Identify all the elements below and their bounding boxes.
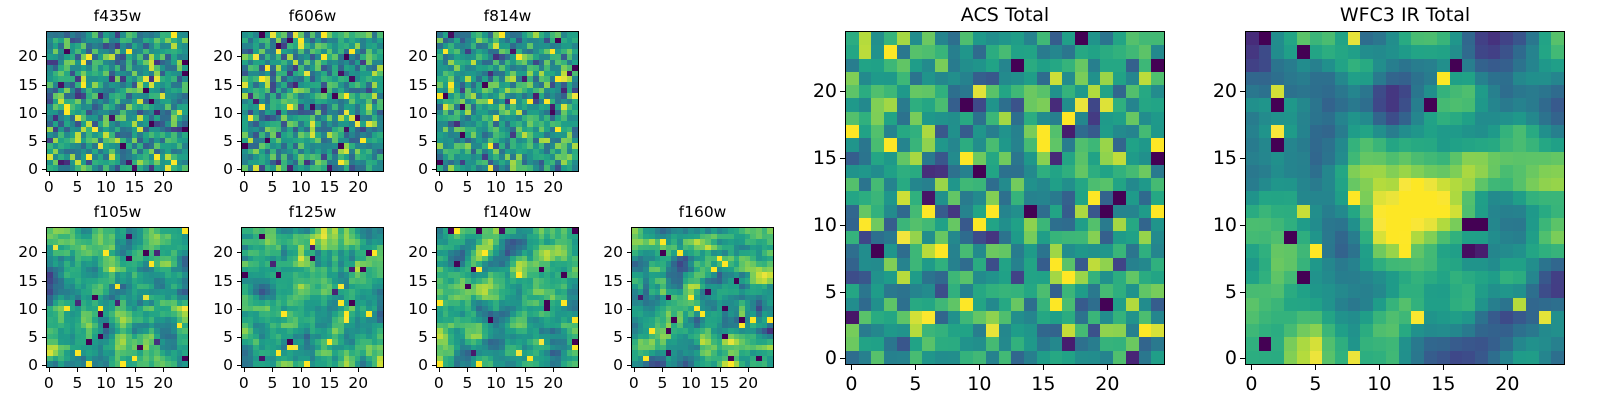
ytick-label-acs-total-3: 15 <box>725 147 837 169</box>
ytick-wfc3-ir-total-2 <box>1240 225 1245 226</box>
ytick-f125w-2 <box>237 309 241 310</box>
ytick-label-f125w-4: 20 <box>131 243 233 261</box>
heatmap-cells-wfc3-ir-total <box>1246 32 1564 364</box>
xtick-f606w-2 <box>301 172 302 176</box>
ytick-f160w-2 <box>627 309 631 310</box>
ytick-label-f140w-3: 15 <box>326 272 428 290</box>
xtick-f435w-0 <box>49 172 50 176</box>
ytick-f606w-2 <box>237 113 241 114</box>
ytick-f105w-4 <box>42 252 46 253</box>
xtick-label-f435w-2: 10 <box>96 178 116 196</box>
xtick-label-acs-total-3: 15 <box>1031 373 1055 395</box>
ytick-f105w-0 <box>42 365 46 366</box>
xtick-label-f125w-1: 5 <box>268 374 278 392</box>
xtick-label-f105w-3: 15 <box>125 374 145 392</box>
ytick-acs-total-2 <box>840 225 845 226</box>
xtick-f160w-3 <box>720 368 721 372</box>
ytick-f125w-1 <box>237 337 241 338</box>
ytick-label-f435w-2: 10 <box>0 104 38 122</box>
ytick-wfc3-ir-total-1 <box>1240 292 1245 293</box>
ytick-f160w-4 <box>627 252 631 253</box>
xtick-f814w-3 <box>525 172 526 176</box>
xtick-label-f140w-3: 15 <box>515 374 535 392</box>
xtick-f125w-0 <box>244 368 245 372</box>
xtick-wfc3-ir-total-2 <box>1379 365 1380 370</box>
ytick-label-f606w-2: 10 <box>131 104 233 122</box>
xtick-label-wfc3-ir-total-1: 5 <box>1309 373 1321 395</box>
ytick-label-f125w-3: 15 <box>131 272 233 290</box>
ytick-label-f814w-2: 10 <box>326 104 428 122</box>
ytick-label-f125w-1: 5 <box>131 328 233 346</box>
ytick-label-f160w-3: 15 <box>521 272 623 290</box>
xtick-f814w-2 <box>496 172 497 176</box>
xtick-label-f814w-2: 10 <box>486 178 506 196</box>
xtick-label-f125w-0: 0 <box>239 374 249 392</box>
xtick-acs-total-0 <box>851 365 852 370</box>
xtick-f160w-2 <box>691 368 692 372</box>
panel-title-f435w: f435w <box>46 7 189 25</box>
xtick-f140w-0 <box>439 368 440 372</box>
ytick-acs-total-0 <box>840 358 845 359</box>
ytick-label-f160w-1: 5 <box>521 328 623 346</box>
ytick-label-f435w-0: 0 <box>0 160 38 178</box>
xtick-f160w-1 <box>662 368 663 372</box>
ytick-label-f140w-0: 0 <box>326 356 428 374</box>
xtick-f814w-1 <box>467 172 468 176</box>
xtick-label-f435w-1: 5 <box>73 178 83 196</box>
ytick-f435w-1 <box>42 141 46 142</box>
xtick-f606w-0 <box>244 172 245 176</box>
xtick-label-f125w-4: 20 <box>348 374 368 392</box>
ytick-label-f160w-0: 0 <box>521 356 623 374</box>
ytick-acs-total-3 <box>840 158 845 159</box>
ytick-f105w-1 <box>42 337 46 338</box>
ytick-f140w-1 <box>432 337 436 338</box>
ytick-wfc3-ir-total-3 <box>1240 158 1245 159</box>
xtick-label-acs-total-4: 20 <box>1095 373 1119 395</box>
ytick-f105w-2 <box>42 309 46 310</box>
xtick-label-f105w-0: 0 <box>44 374 54 392</box>
ytick-label-acs-total-0: 0 <box>725 347 837 369</box>
ytick-f160w-1 <box>627 337 631 338</box>
panel-title-f140w: f140w <box>436 203 579 221</box>
ytick-f435w-0 <box>42 169 46 170</box>
xtick-f814w-4 <box>553 172 554 176</box>
xtick-label-f814w-0: 0 <box>434 178 444 196</box>
ytick-label-f814w-4: 20 <box>326 47 428 65</box>
ytick-label-f105w-3: 15 <box>0 272 38 290</box>
ytick-acs-total-1 <box>840 292 845 293</box>
xtick-f105w-2 <box>106 368 107 372</box>
ytick-label-wfc3-ir-total-3: 15 <box>1125 147 1237 169</box>
xtick-label-acs-total-1: 5 <box>909 373 921 395</box>
xtick-wfc3-ir-total-1 <box>1315 365 1316 370</box>
panel-title-wfc3-ir-total: WFC3 IR Total <box>1245 4 1565 26</box>
ytick-label-f435w-3: 15 <box>0 76 38 94</box>
heatmap-acs-total[interactable] <box>845 31 1165 365</box>
xtick-acs-total-1 <box>915 365 916 370</box>
ytick-f160w-0 <box>627 365 631 366</box>
xtick-label-f606w-0: 0 <box>239 178 249 196</box>
ytick-label-f435w-4: 20 <box>0 47 38 65</box>
xtick-label-f606w-3: 15 <box>320 178 340 196</box>
ytick-label-f105w-0: 0 <box>0 356 38 374</box>
xtick-f606w-1 <box>272 172 273 176</box>
xtick-wfc3-ir-total-3 <box>1443 365 1444 370</box>
ytick-f814w-0 <box>432 169 436 170</box>
xtick-label-wfc3-ir-total-3: 15 <box>1431 373 1455 395</box>
ytick-f125w-4 <box>237 252 241 253</box>
ytick-f606w-0 <box>237 169 241 170</box>
ytick-f435w-3 <box>42 85 46 86</box>
xtick-label-f125w-2: 10 <box>291 374 311 392</box>
xtick-label-wfc3-ir-total-4: 20 <box>1495 373 1519 395</box>
xtick-acs-total-2 <box>979 365 980 370</box>
ytick-f814w-4 <box>432 56 436 57</box>
ytick-label-f105w-2: 10 <box>0 300 38 318</box>
xtick-label-f435w-0: 0 <box>44 178 54 196</box>
ytick-f814w-1 <box>432 141 436 142</box>
panel-title-f606w: f606w <box>241 7 384 25</box>
ytick-label-f140w-4: 20 <box>326 243 428 261</box>
ytick-label-wfc3-ir-total-4: 20 <box>1125 80 1237 102</box>
ytick-label-f814w-0: 0 <box>326 160 428 178</box>
xtick-f125w-2 <box>301 368 302 372</box>
xtick-f814w-0 <box>439 172 440 176</box>
xtick-f160w-0 <box>634 368 635 372</box>
xtick-label-f160w-0: 0 <box>629 374 639 392</box>
xtick-label-f105w-4: 20 <box>153 374 173 392</box>
xtick-label-f140w-4: 20 <box>543 374 563 392</box>
ytick-label-acs-total-1: 5 <box>725 281 837 303</box>
ytick-label-f606w-3: 15 <box>131 76 233 94</box>
ytick-label-acs-total-2: 10 <box>725 214 837 236</box>
xtick-label-f140w-1: 5 <box>463 374 473 392</box>
xtick-wfc3-ir-total-4 <box>1507 365 1508 370</box>
ytick-label-f814w-1: 5 <box>326 132 428 150</box>
ytick-label-f125w-0: 0 <box>131 356 233 374</box>
xtick-label-f140w-0: 0 <box>434 374 444 392</box>
ytick-label-wfc3-ir-total-0: 0 <box>1125 347 1237 369</box>
xtick-acs-total-3 <box>1043 365 1044 370</box>
ytick-label-f105w-4: 20 <box>0 243 38 261</box>
xtick-f140w-2 <box>496 368 497 372</box>
xtick-label-f435w-4: 20 <box>153 178 173 196</box>
xtick-f105w-0 <box>49 368 50 372</box>
xtick-label-wfc3-ir-total-0: 0 <box>1245 373 1257 395</box>
heatmap-f814w[interactable] <box>436 31 579 172</box>
ytick-label-wfc3-ir-total-2: 10 <box>1125 214 1237 236</box>
ytick-label-acs-total-4: 20 <box>725 80 837 102</box>
ytick-label-f160w-2: 10 <box>521 300 623 318</box>
xtick-label-f160w-3: 15 <box>710 374 730 392</box>
ytick-f140w-2 <box>432 309 436 310</box>
xtick-label-f606w-4: 20 <box>348 178 368 196</box>
xtick-label-f105w-1: 5 <box>73 374 83 392</box>
xtick-label-acs-total-2: 10 <box>967 373 991 395</box>
xtick-f105w-1 <box>77 368 78 372</box>
ytick-label-f606w-0: 0 <box>131 160 233 178</box>
ytick-acs-total-4 <box>840 91 845 92</box>
ytick-f606w-1 <box>237 141 241 142</box>
ytick-label-wfc3-ir-total-1: 5 <box>1125 281 1237 303</box>
ytick-label-f125w-2: 10 <box>131 300 233 318</box>
ytick-f140w-4 <box>432 252 436 253</box>
ytick-f606w-3 <box>237 85 241 86</box>
ytick-f125w-3 <box>237 281 241 282</box>
ytick-f606w-4 <box>237 56 241 57</box>
panel-title-f125w: f125w <box>241 203 384 221</box>
xtick-label-f160w-1: 5 <box>658 374 668 392</box>
xtick-label-f160w-2: 10 <box>681 374 701 392</box>
xtick-label-acs-total-0: 0 <box>845 373 857 395</box>
ytick-f125w-0 <box>237 365 241 366</box>
ytick-label-f435w-1: 5 <box>0 132 38 150</box>
xtick-label-f814w-3: 15 <box>515 178 535 196</box>
xtick-f435w-2 <box>106 172 107 176</box>
xtick-f140w-1 <box>467 368 468 372</box>
xtick-label-f606w-1: 5 <box>268 178 278 196</box>
xtick-label-f125w-3: 15 <box>320 374 340 392</box>
ytick-f814w-3 <box>432 85 436 86</box>
ytick-f814w-2 <box>432 113 436 114</box>
ytick-label-f140w-1: 5 <box>326 328 428 346</box>
ytick-f435w-4 <box>42 56 46 57</box>
xtick-label-f606w-2: 10 <box>291 178 311 196</box>
xtick-label-wfc3-ir-total-2: 10 <box>1367 373 1391 395</box>
xtick-label-f105w-2: 10 <box>96 374 116 392</box>
xtick-acs-total-4 <box>1107 365 1108 370</box>
ytick-label-f105w-1: 5 <box>0 328 38 346</box>
xtick-label-f814w-1: 5 <box>463 178 473 196</box>
xtick-wfc3-ir-total-0 <box>1251 365 1252 370</box>
panel-title-f105w: f105w <box>46 203 189 221</box>
ytick-f140w-3 <box>432 281 436 282</box>
heatmap-cells-acs-total <box>846 32 1164 364</box>
ytick-label-f140w-2: 10 <box>326 300 428 318</box>
xtick-f125w-1 <box>272 368 273 372</box>
panel-title-f814w: f814w <box>436 7 579 25</box>
xtick-label-f160w-4: 20 <box>738 374 758 392</box>
ytick-f105w-3 <box>42 281 46 282</box>
ytick-label-f160w-4: 20 <box>521 243 623 261</box>
heatmap-cells-f814w <box>437 32 578 171</box>
heatmap-wfc3-ir-total[interactable] <box>1245 31 1565 365</box>
ytick-f435w-2 <box>42 113 46 114</box>
xtick-label-f140w-2: 10 <box>486 374 506 392</box>
ytick-label-f606w-1: 5 <box>131 132 233 150</box>
panel-title-acs-total: ACS Total <box>845 4 1165 26</box>
xtick-label-f814w-4: 20 <box>543 178 563 196</box>
ytick-wfc3-ir-total-0 <box>1240 358 1245 359</box>
xtick-label-f435w-3: 15 <box>125 178 145 196</box>
xtick-f435w-1 <box>77 172 78 176</box>
ytick-f140w-0 <box>432 365 436 366</box>
ytick-label-f606w-4: 20 <box>131 47 233 65</box>
ytick-f160w-3 <box>627 281 631 282</box>
ytick-wfc3-ir-total-4 <box>1240 91 1245 92</box>
ytick-label-f814w-3: 15 <box>326 76 428 94</box>
